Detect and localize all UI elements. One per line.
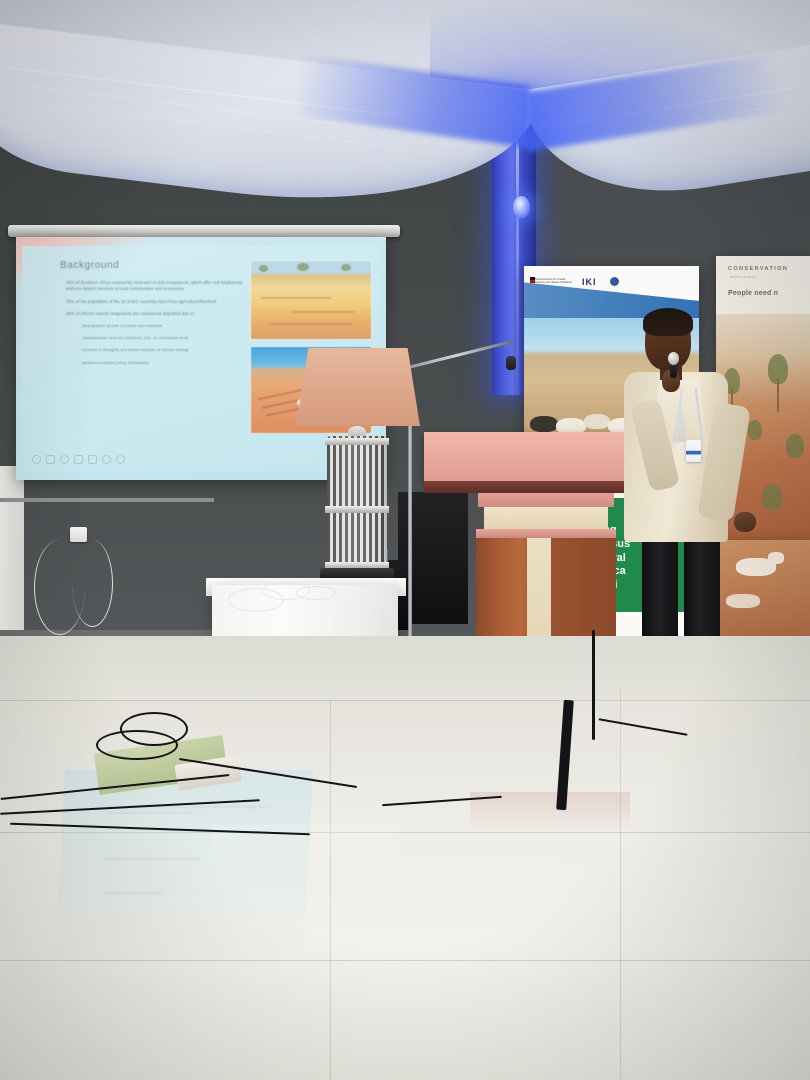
slide-bullet-list: 75% of Southern Africa covered by semi-a…: [66, 280, 246, 372]
slide-bullet: 70% of the population of the 16 SADC cou…: [66, 299, 246, 305]
slide-sub-bullet: weak/non-existent policy frameworks: [82, 360, 246, 366]
table-lamp-band-mid: [325, 506, 389, 513]
wall-power-socket: [70, 527, 87, 542]
slide-image-degraded-rangeland: [250, 260, 372, 340]
slide-sub-bullet: unsustainable land-use practices, esp. o…: [82, 335, 246, 341]
left-door-frame: [0, 466, 24, 656]
presenter-toolbar[interactable]: [32, 455, 125, 464]
pillar-spot-light: [513, 196, 530, 218]
table-lamp-shade: [296, 348, 420, 426]
slide-bullet: 95% of Africa's natural rangelands are c…: [66, 311, 246, 317]
banner-right-header: CONSERVATION SOUTH AFRICA People need n: [716, 256, 810, 314]
table-lamp-ornate-base: [327, 436, 387, 574]
speaker-hair: [643, 308, 693, 336]
banner-right-title: CONSERVATION: [728, 266, 788, 272]
more-options-icon[interactable]: [88, 455, 97, 464]
slide-sub-bullet: demographic growth of people and livesto…: [82, 323, 246, 329]
speaker-hand-right: [734, 512, 756, 532]
laser-pointer-icon[interactable]: [102, 455, 111, 464]
floor-tile-line: [330, 700, 331, 1080]
pen-icon[interactable]: [32, 455, 41, 464]
floor-tile-line: [0, 960, 810, 961]
handheld-microphone-head-icon: [668, 352, 679, 365]
podium-neck: [478, 493, 614, 507]
iki-logo: IKI: [582, 277, 597, 287]
eraser-icon[interactable]: [116, 455, 125, 464]
floor-cable-loop-2: [96, 730, 178, 760]
zoom-icon[interactable]: [60, 455, 69, 464]
slide-bullet: 75% of Southern Africa covered by semi-a…: [66, 280, 246, 293]
banner-right-tagline: People need n: [728, 290, 778, 297]
slide-view-icon[interactable]: [74, 455, 83, 464]
table-lamp-band-top: [325, 438, 389, 445]
banner-right-subtitle: SOUTH AFRICA: [730, 276, 756, 279]
banner-cable-vertical: [592, 630, 595, 740]
projection-screen-housing: [8, 225, 400, 237]
highlighter-icon[interactable]: [46, 455, 55, 464]
slide-sub-bullet: increase in droughts and floods because …: [82, 347, 246, 353]
conference-photo: Background 75% of Southern Africa covere…: [0, 0, 810, 1080]
white-cable-b: [34, 540, 85, 635]
wall-trim-rail: [0, 498, 214, 502]
conference-badge: [686, 440, 701, 462]
slide-title: Background: [60, 260, 119, 271]
mic-stand-mic-head: [506, 356, 516, 370]
white-cable-loop-3: [296, 586, 336, 600]
podium-cream-band: [484, 507, 608, 529]
iki-logo-mark-icon: [610, 277, 619, 286]
podium-lip: [476, 529, 616, 538]
